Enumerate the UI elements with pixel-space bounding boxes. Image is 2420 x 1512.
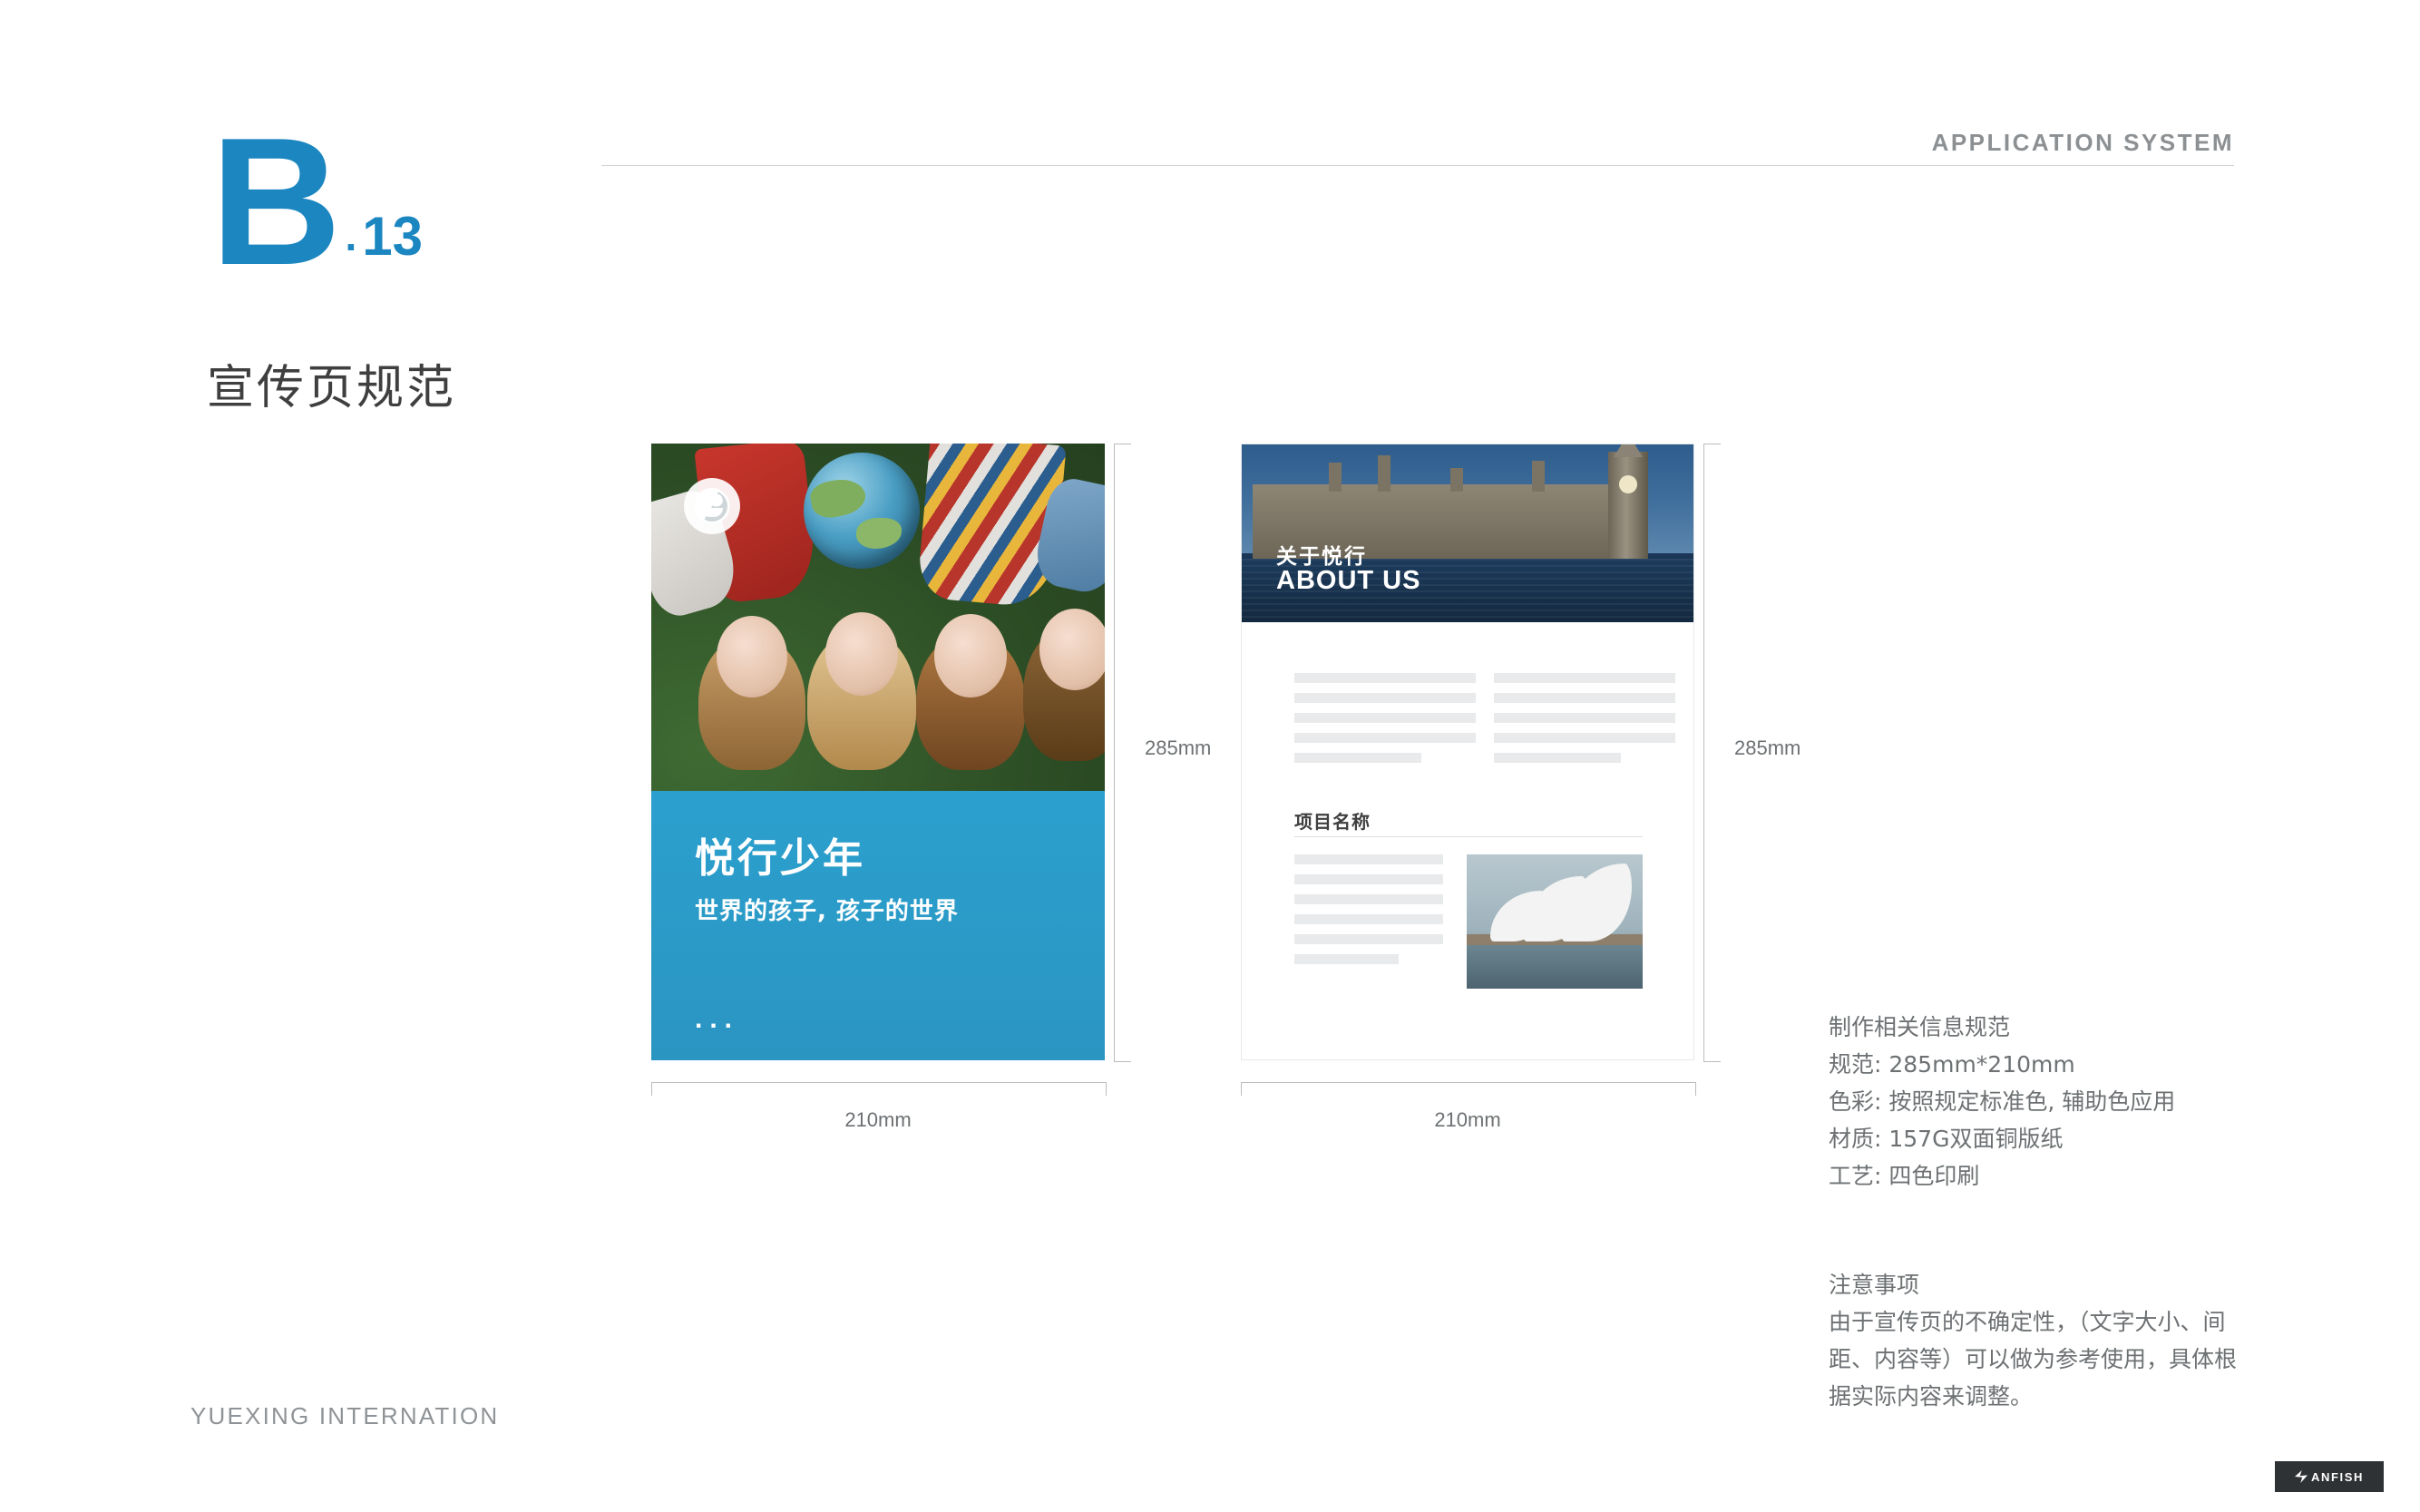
placeholder-line [1294,954,1399,964]
section-letter: B [210,127,339,277]
section-mark: B . 13 [210,127,423,277]
flyer-cover-dots: ... [695,1004,739,1035]
flyer-inside-width-label: 210mm [1241,1108,1694,1132]
spire-4 [1532,461,1545,492]
page-title: 宣传页规范 [207,349,456,417]
placeholder-line [1294,693,1476,703]
spec-heading: 制作相关信息规范 [1829,1009,2175,1046]
spire-1 [1329,463,1342,492]
head-1 [717,616,787,697]
flyer-cover-height-label: 285mm [1145,736,1211,760]
flyer-inside-hero-title-en: ABOUT US [1276,566,1420,596]
placeholder-line [1294,673,1476,683]
flyer-cover-subtitle: 世界的孩子, 孩子的世界 [695,893,959,926]
footer-brand-text: YUEXING INTERNATION [190,1402,499,1430]
yuexing-round-logo-icon [684,478,740,534]
big-ben-tower [1608,452,1648,559]
flyer-inside-height-dimension [1703,444,1721,1062]
spec-line-size: 规范: 285mm*210mm [1829,1046,2175,1083]
page-header-title: APPLICATION SYSTEM [1932,129,2234,157]
head-2 [825,612,898,696]
placeholder-line [1294,733,1476,743]
placeholder-line [1294,914,1443,924]
flyer-inside-section-divider [1294,836,1643,837]
placeholder-line [1494,733,1675,743]
placeholder-text-block [1294,854,1443,974]
sydney-opera-house-photo [1467,854,1643,989]
flyer-inside-width-dimension [1241,1082,1696,1096]
flyer-inside-height-label: 285mm [1734,736,1800,760]
placeholder-line [1494,713,1675,723]
placeholder-line [1294,854,1443,864]
flyer-cover-title: 悦行少年 [695,825,865,883]
placeholder-line [1294,753,1421,763]
flyer-inside-hero-photo: 关于悦行 ABOUT US [1242,444,1694,622]
notes-block: 注意事项 由于宣传页的不确定性，（文字大小、间距、内容等）可以做为参考使用，具体… [1829,1266,2239,1415]
spire-2 [1378,455,1391,492]
placeholder-text-column-right [1494,673,1675,773]
harbour-water [1467,941,1643,989]
flyer-cover-mockup: 悦行少年 世界的孩子, 孩子的世界 ... [651,444,1105,1060]
globe-prop [804,453,920,569]
flyer-cover-width-dimension [651,1082,1107,1096]
flyer-inside-mockup: 关于悦行 ABOUT US 项目名称 [1241,444,1694,1060]
flyer-cover-width-label: 210mm [651,1108,1105,1132]
spec-line-color: 色彩: 按照规定标准色, 辅助色应用 [1829,1083,2175,1120]
placeholder-line [1494,673,1675,683]
section-dot: . [345,215,356,257]
lightning-fish-icon [2295,1470,2308,1483]
placeholder-line [1294,874,1443,884]
placeholder-line [1494,693,1675,703]
placeholder-line [1494,753,1621,763]
notes-body: 由于宣传页的不确定性，（文字大小、间距、内容等）可以做为参考使用，具体根据实际内… [1829,1303,2239,1415]
placeholder-line [1294,934,1443,944]
spire-3 [1450,468,1463,492]
flyer-cover-photo [651,444,1105,791]
flyer-cover-height-dimension [1114,444,1131,1062]
placeholder-line [1294,894,1443,904]
head-4 [1039,609,1105,690]
notes-heading: 注意事项 [1829,1266,2239,1303]
section-number: 13 [362,210,423,264]
flyer-inside-section-title: 项目名称 [1294,807,1371,834]
placeholder-line [1294,713,1476,723]
placeholder-text-column-left [1294,673,1476,773]
footer-logo: ANFISH [2275,1461,2384,1492]
header-divider [601,165,2234,166]
flyer-cover-text-panel: 悦行少年 世界的孩子, 孩子的世界 ... [651,791,1105,1060]
flyer-inside-hero-title-zh: 关于悦行 [1276,539,1367,570]
production-spec-block: 制作相关信息规范 规范: 285mm*210mm 色彩: 按照规定标准色, 辅助… [1829,1009,2175,1195]
footer-logo-text: ANFISH [2311,1470,2364,1484]
head-3 [934,614,1007,697]
opera-sail-3 [1561,863,1632,941]
spec-line-process: 工艺: 四色印刷 [1829,1157,2175,1195]
spec-line-material: 材质: 157G双面铜版纸 [1829,1120,2175,1157]
